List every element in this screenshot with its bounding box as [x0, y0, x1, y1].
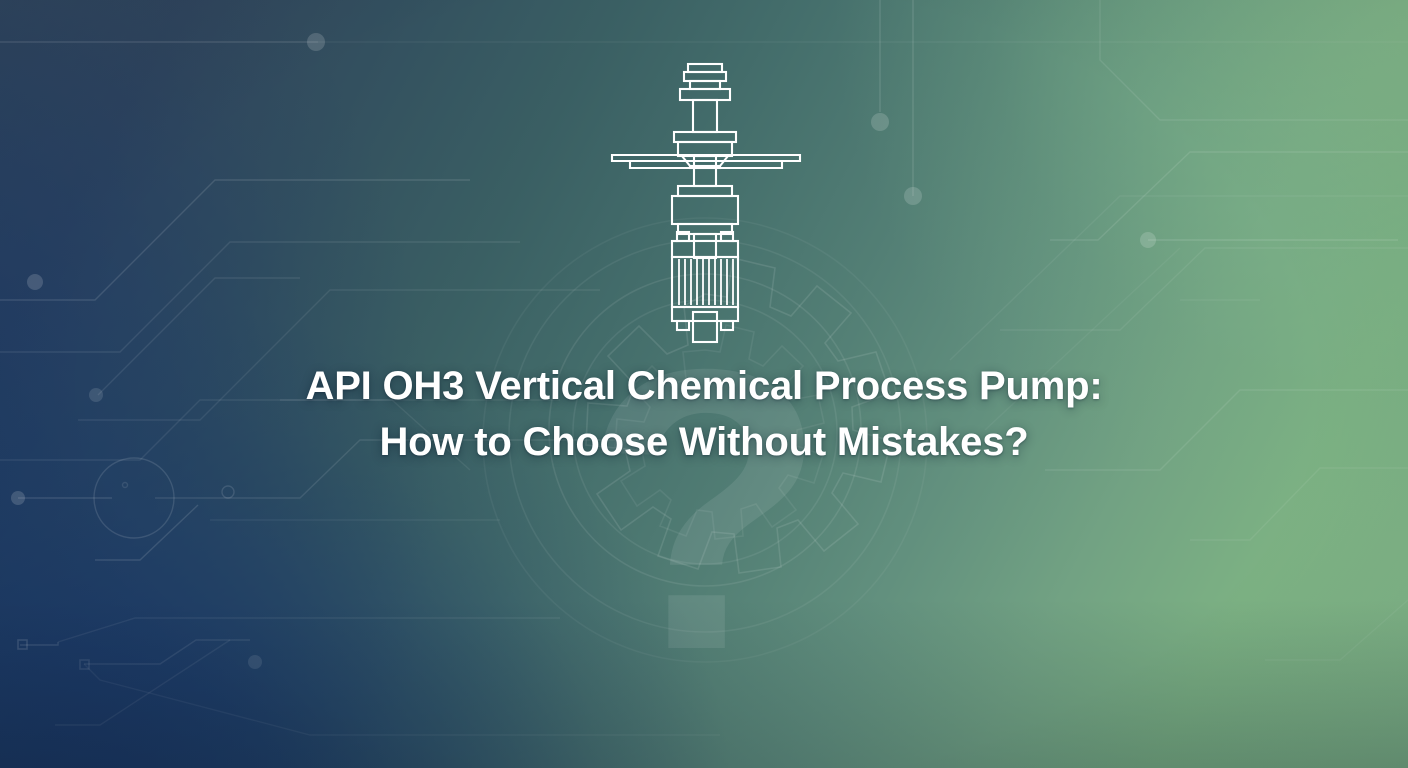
hero-banner: ?: [0, 0, 1408, 768]
background-vignette: [0, 0, 1408, 768]
